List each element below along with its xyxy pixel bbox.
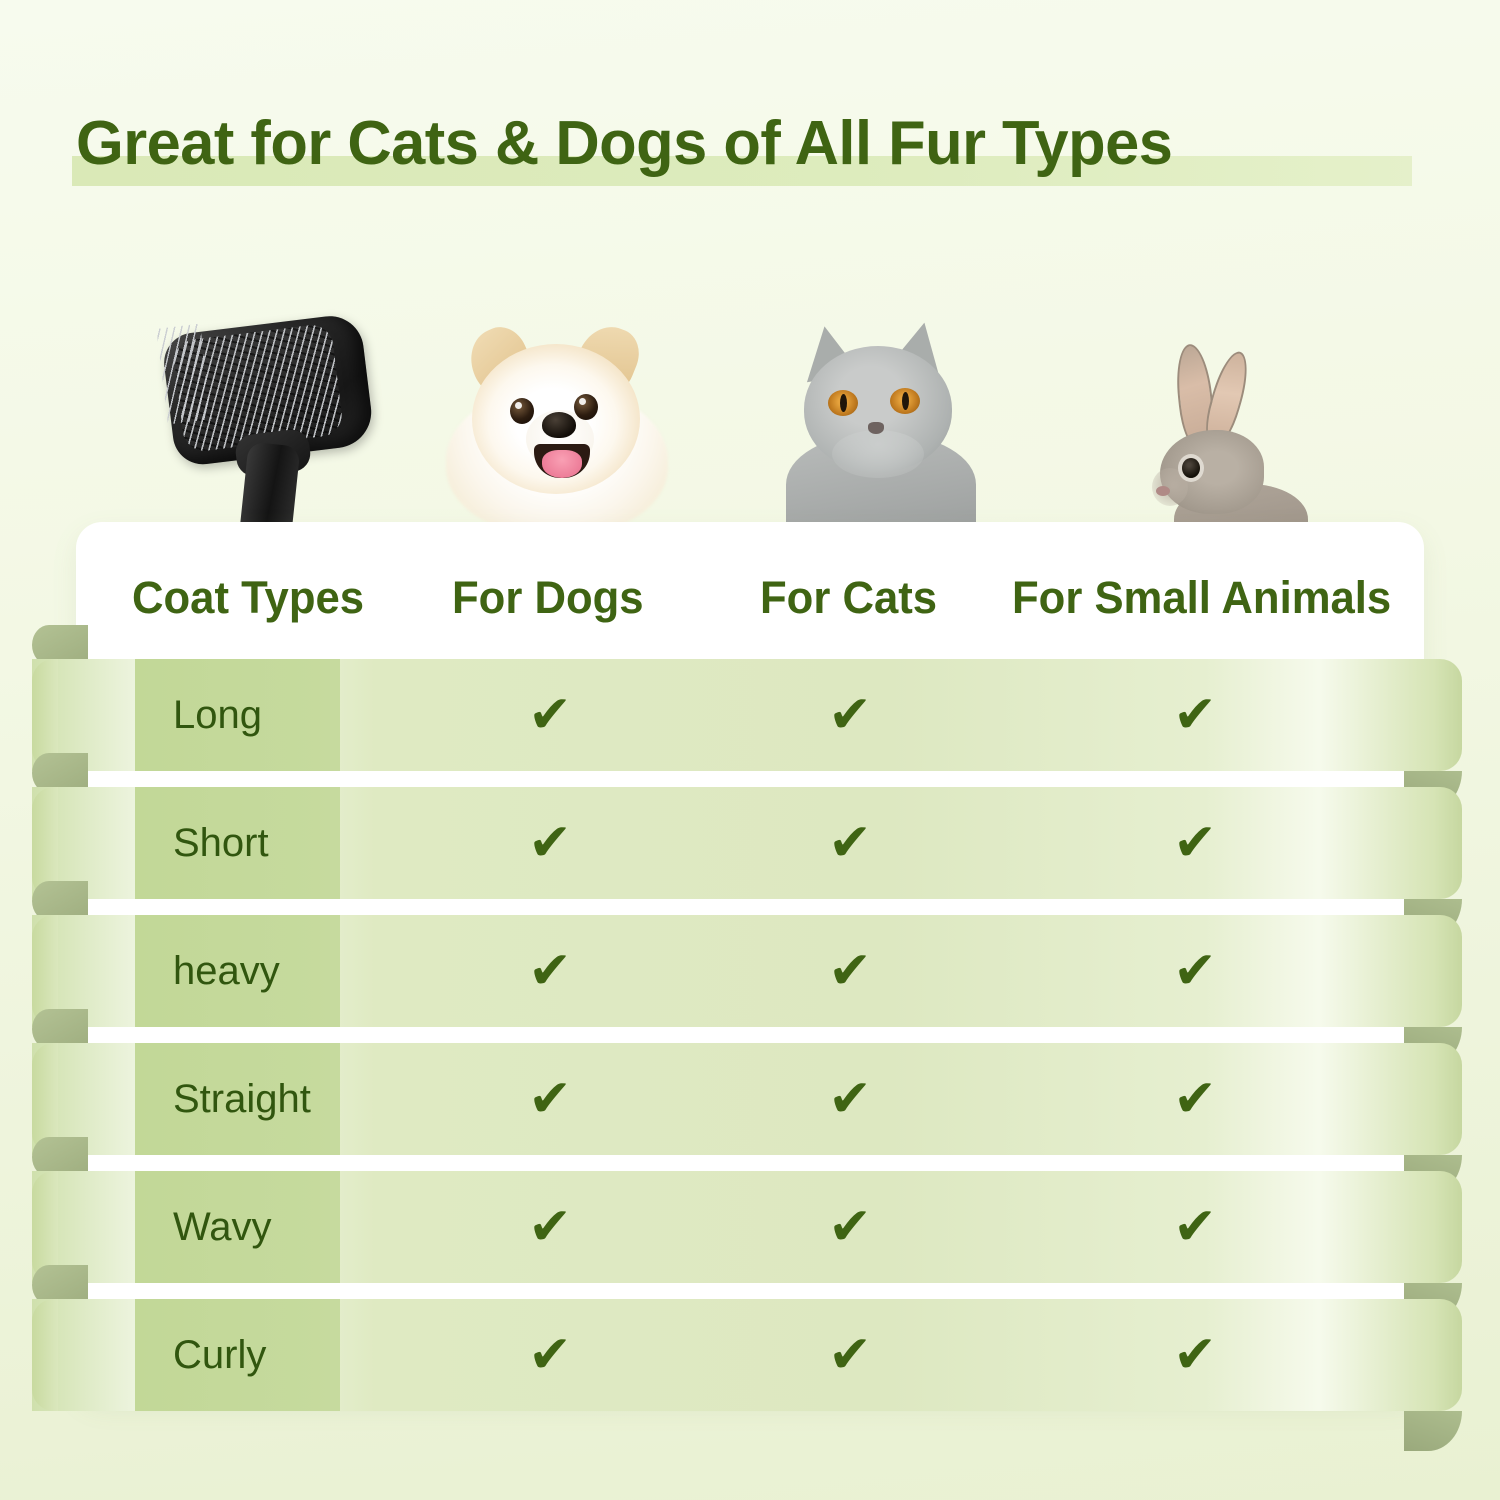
cell-coat-type: heavy bbox=[135, 915, 340, 1027]
column-header-for-cats: For Cats bbox=[760, 560, 937, 636]
coat-type-label: heavy bbox=[135, 949, 280, 994]
check-for-cats: ✔ bbox=[810, 787, 890, 899]
table-row: Straight✔✔✔ bbox=[0, 1043, 1500, 1155]
check-for-small-animals: ✔ bbox=[1155, 915, 1235, 1027]
table-row: Long✔✔✔ bbox=[0, 659, 1500, 771]
table-row: Curly✔✔✔ bbox=[0, 1299, 1500, 1411]
cell-coat-type: Wavy bbox=[135, 1171, 340, 1283]
check-for-small-animals: ✔ bbox=[1155, 1043, 1235, 1155]
cell-coat-type: Straight bbox=[135, 1043, 340, 1155]
check-for-cats: ✔ bbox=[810, 1299, 890, 1411]
column-header-small-animals: For Small Animals bbox=[1012, 560, 1391, 636]
check-for-dogs: ✔ bbox=[510, 1043, 590, 1155]
cell-coat-type: Long bbox=[135, 659, 340, 771]
check-for-small-animals: ✔ bbox=[1155, 787, 1235, 899]
check-for-dogs: ✔ bbox=[510, 1171, 590, 1283]
check-for-dogs: ✔ bbox=[510, 787, 590, 899]
table-row: Short✔✔✔ bbox=[0, 787, 1500, 899]
column-header-coat-types: Coat Types bbox=[132, 560, 364, 636]
coat-type-label: Wavy bbox=[135, 1205, 272, 1250]
check-for-dogs: ✔ bbox=[510, 915, 590, 1027]
check-for-cats: ✔ bbox=[810, 1043, 890, 1155]
table-row: heavy✔✔✔ bbox=[0, 915, 1500, 1027]
coat-type-label: Long bbox=[135, 693, 262, 738]
cell-coat-type: Short bbox=[135, 787, 340, 899]
check-for-cats: ✔ bbox=[810, 1171, 890, 1283]
check-for-small-animals: ✔ bbox=[1155, 659, 1235, 771]
check-for-small-animals: ✔ bbox=[1155, 1299, 1235, 1411]
check-for-dogs: ✔ bbox=[510, 659, 590, 771]
ribbon-band-cap bbox=[32, 1299, 58, 1411]
column-header-for-dogs: For Dogs bbox=[452, 560, 644, 636]
ribbon-fold-right bbox=[1404, 1411, 1462, 1451]
table-header-row: Coat Types For Dogs For Cats For Small A… bbox=[76, 560, 1424, 636]
check-for-small-animals: ✔ bbox=[1155, 1171, 1235, 1283]
coat-type-label: Straight bbox=[135, 1077, 311, 1122]
coat-type-label: Curly bbox=[135, 1333, 266, 1378]
check-for-dogs: ✔ bbox=[510, 1299, 590, 1411]
cell-coat-type: Curly bbox=[135, 1299, 340, 1411]
comparison-table-rows: Long✔✔✔Short✔✔✔heavy✔✔✔Straight✔✔✔Wavy✔✔… bbox=[0, 0, 1500, 1500]
check-for-cats: ✔ bbox=[810, 915, 890, 1027]
check-for-cats: ✔ bbox=[810, 659, 890, 771]
coat-type-label: Short bbox=[135, 821, 269, 866]
table-row: Wavy✔✔✔ bbox=[0, 1171, 1500, 1283]
